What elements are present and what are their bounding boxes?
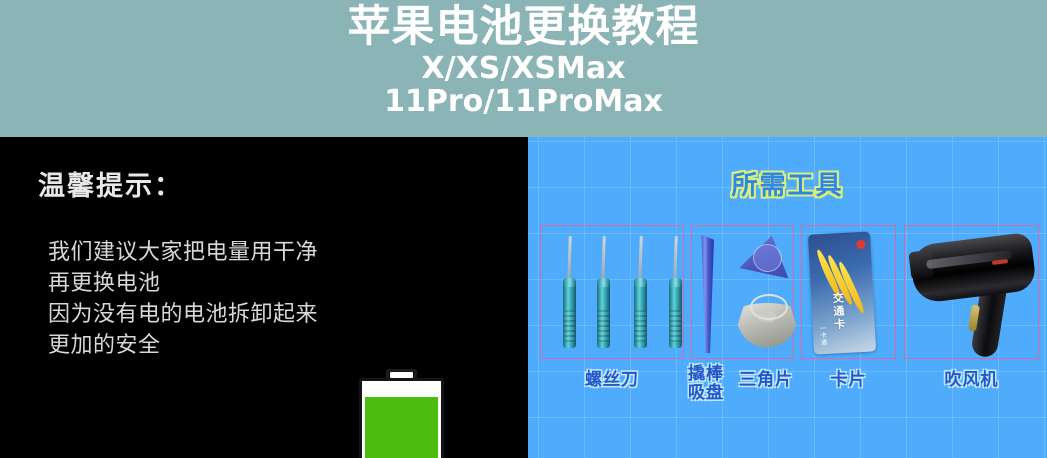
battery-body <box>359 378 444 458</box>
tools-panel: 所需工具 <box>528 137 1047 458</box>
screwdriver-tip <box>567 236 572 282</box>
screwdriver-icon <box>634 236 647 348</box>
hair-dryer-icon <box>910 229 1034 357</box>
tool-label-pry-line-1: 撬棒 <box>688 364 724 384</box>
notice-line-1: 我们建议大家把电量用干净 <box>48 237 358 268</box>
page-title: 苹果电池更换教程 <box>348 2 700 52</box>
suction-cup-ring <box>750 294 788 320</box>
notice-line-2: 再更换电池 <box>48 268 358 299</box>
tutorial-slide: 苹果电池更换教程 X/XS/XSMax 11Pro/11ProMax 温馨提示：… <box>0 0 1047 458</box>
screwdriver-grip <box>598 310 609 342</box>
transit-card-icon: 交通卡 一卡通 <box>808 231 876 354</box>
suction-cup-icon <box>736 289 798 351</box>
subtitle-line-1: X/XS/XSMax <box>422 52 626 85</box>
tools-heading: 所需工具 <box>528 165 1047 202</box>
screwdriver-tip <box>638 236 643 282</box>
screwdriver-collar <box>634 278 647 287</box>
tool-label-pry-bar: 撬棒 吸盘 <box>678 365 734 403</box>
screwdriver-grip <box>564 310 575 342</box>
tool-label-triangle-pick: 三角片 <box>733 365 799 390</box>
tool-label-screwdriver: 螺丝刀 <box>540 365 684 390</box>
screwdriver-collar <box>563 278 576 287</box>
screwdriver-icon <box>597 236 610 348</box>
battery-icon <box>359 369 444 458</box>
screwdriver-icon <box>563 236 576 348</box>
card-brand-text: 一卡通 <box>818 325 828 346</box>
screwdriver-grip <box>670 310 681 342</box>
triangle-pick-icon <box>742 235 792 282</box>
subtitle-line-2: 11Pro/11ProMax <box>384 85 663 118</box>
notice-line-4: 更加的安全 <box>48 330 358 361</box>
card-logo-dot <box>856 240 865 249</box>
card-name-text: 交通卡 <box>829 292 847 332</box>
pry-bar-icon <box>700 235 714 353</box>
notice-panel: 温馨提示： 我们建议大家把电量用干净 再更换电池 因为没有电的电池拆卸起来 更加… <box>0 137 528 458</box>
tool-label-pry-line-2: 吸盘 <box>688 383 724 403</box>
notice-body: 我们建议大家把电量用干净 再更换电池 因为没有电的电池拆卸起来 更加的安全 <box>48 237 358 361</box>
tool-label-card: 卡片 <box>801 365 896 390</box>
tool-label-hair-dryer: 吹风机 <box>904 365 1039 390</box>
tool-cell-screwdriver <box>540 225 684 359</box>
screwdriver-tip <box>601 236 606 282</box>
screwdriver-collar <box>669 278 682 287</box>
screwdriver-collar <box>597 278 610 287</box>
notice-heading: 温馨提示： <box>38 164 183 203</box>
screwdriver-tip <box>673 236 678 282</box>
pry-bar-blade <box>700 235 714 353</box>
slide-header: 苹果电池更换教程 X/XS/XSMax 11Pro/11ProMax <box>0 0 1047 137</box>
screwdriver-grip <box>635 310 646 342</box>
notice-line-3: 因为没有电的电池拆卸起来 <box>48 299 358 330</box>
screwdriver-icon <box>669 236 682 348</box>
battery-fill-level <box>365 397 438 458</box>
